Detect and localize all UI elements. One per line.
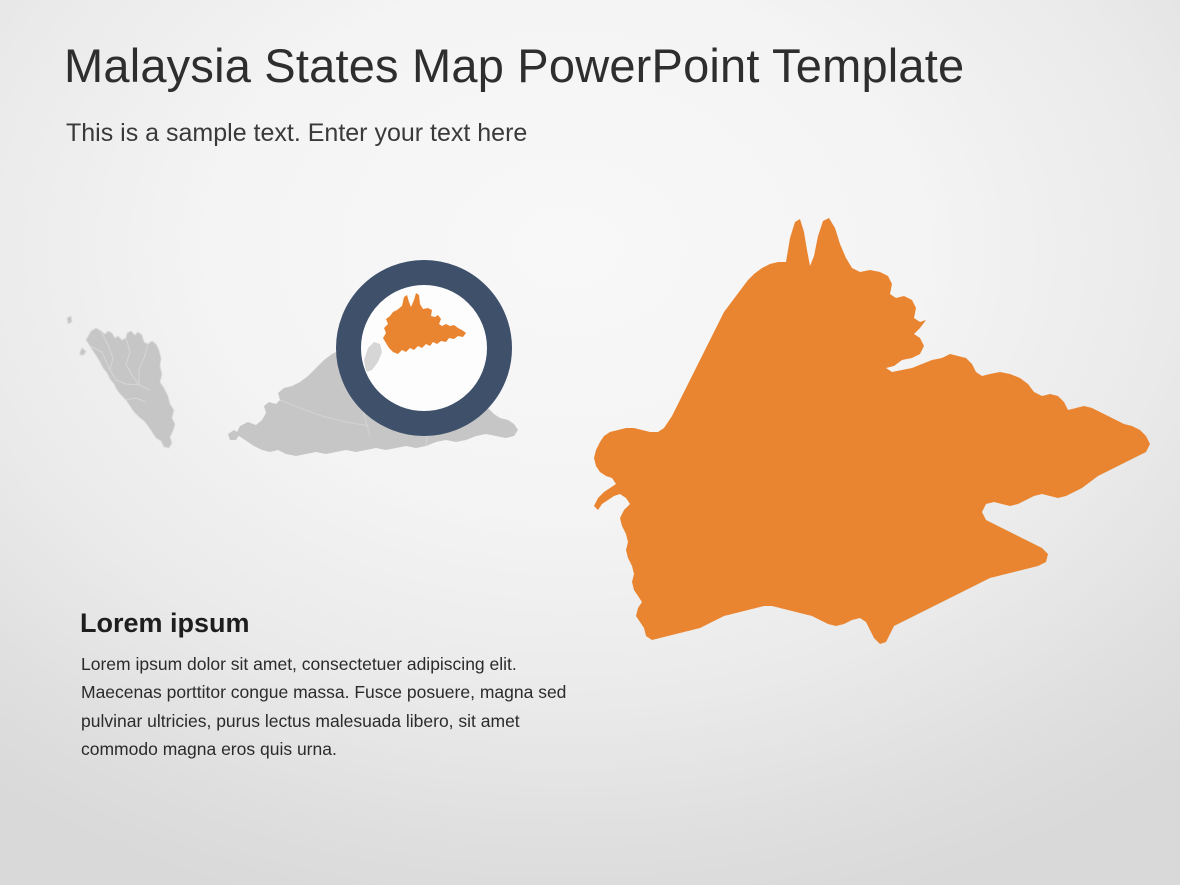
body-heading: Lorem ipsum xyxy=(80,608,250,639)
page-subtitle: This is a sample text. Enter your text h… xyxy=(66,118,527,148)
peninsular-malaysia-map[interactable] xyxy=(60,300,230,465)
body-paragraph: Lorem ipsum dolor sit amet, consectetuer… xyxy=(81,650,601,763)
neighbor-land-sliver xyxy=(364,342,382,372)
sarawak-enlarged-shape xyxy=(594,218,1150,644)
sarawak-callout-circle[interactable] xyxy=(336,260,512,436)
sarawak-highlight-shape xyxy=(383,293,466,354)
callout-inner-map xyxy=(362,286,486,410)
slide-canvas: Malaysia States Map PowerPoint Template … xyxy=(0,0,1180,885)
page-title: Malaysia States Map PowerPoint Template xyxy=(64,40,964,92)
sarawak-enlarged-map[interactable] xyxy=(590,210,1170,650)
sarawak-mini-shape xyxy=(362,286,486,410)
